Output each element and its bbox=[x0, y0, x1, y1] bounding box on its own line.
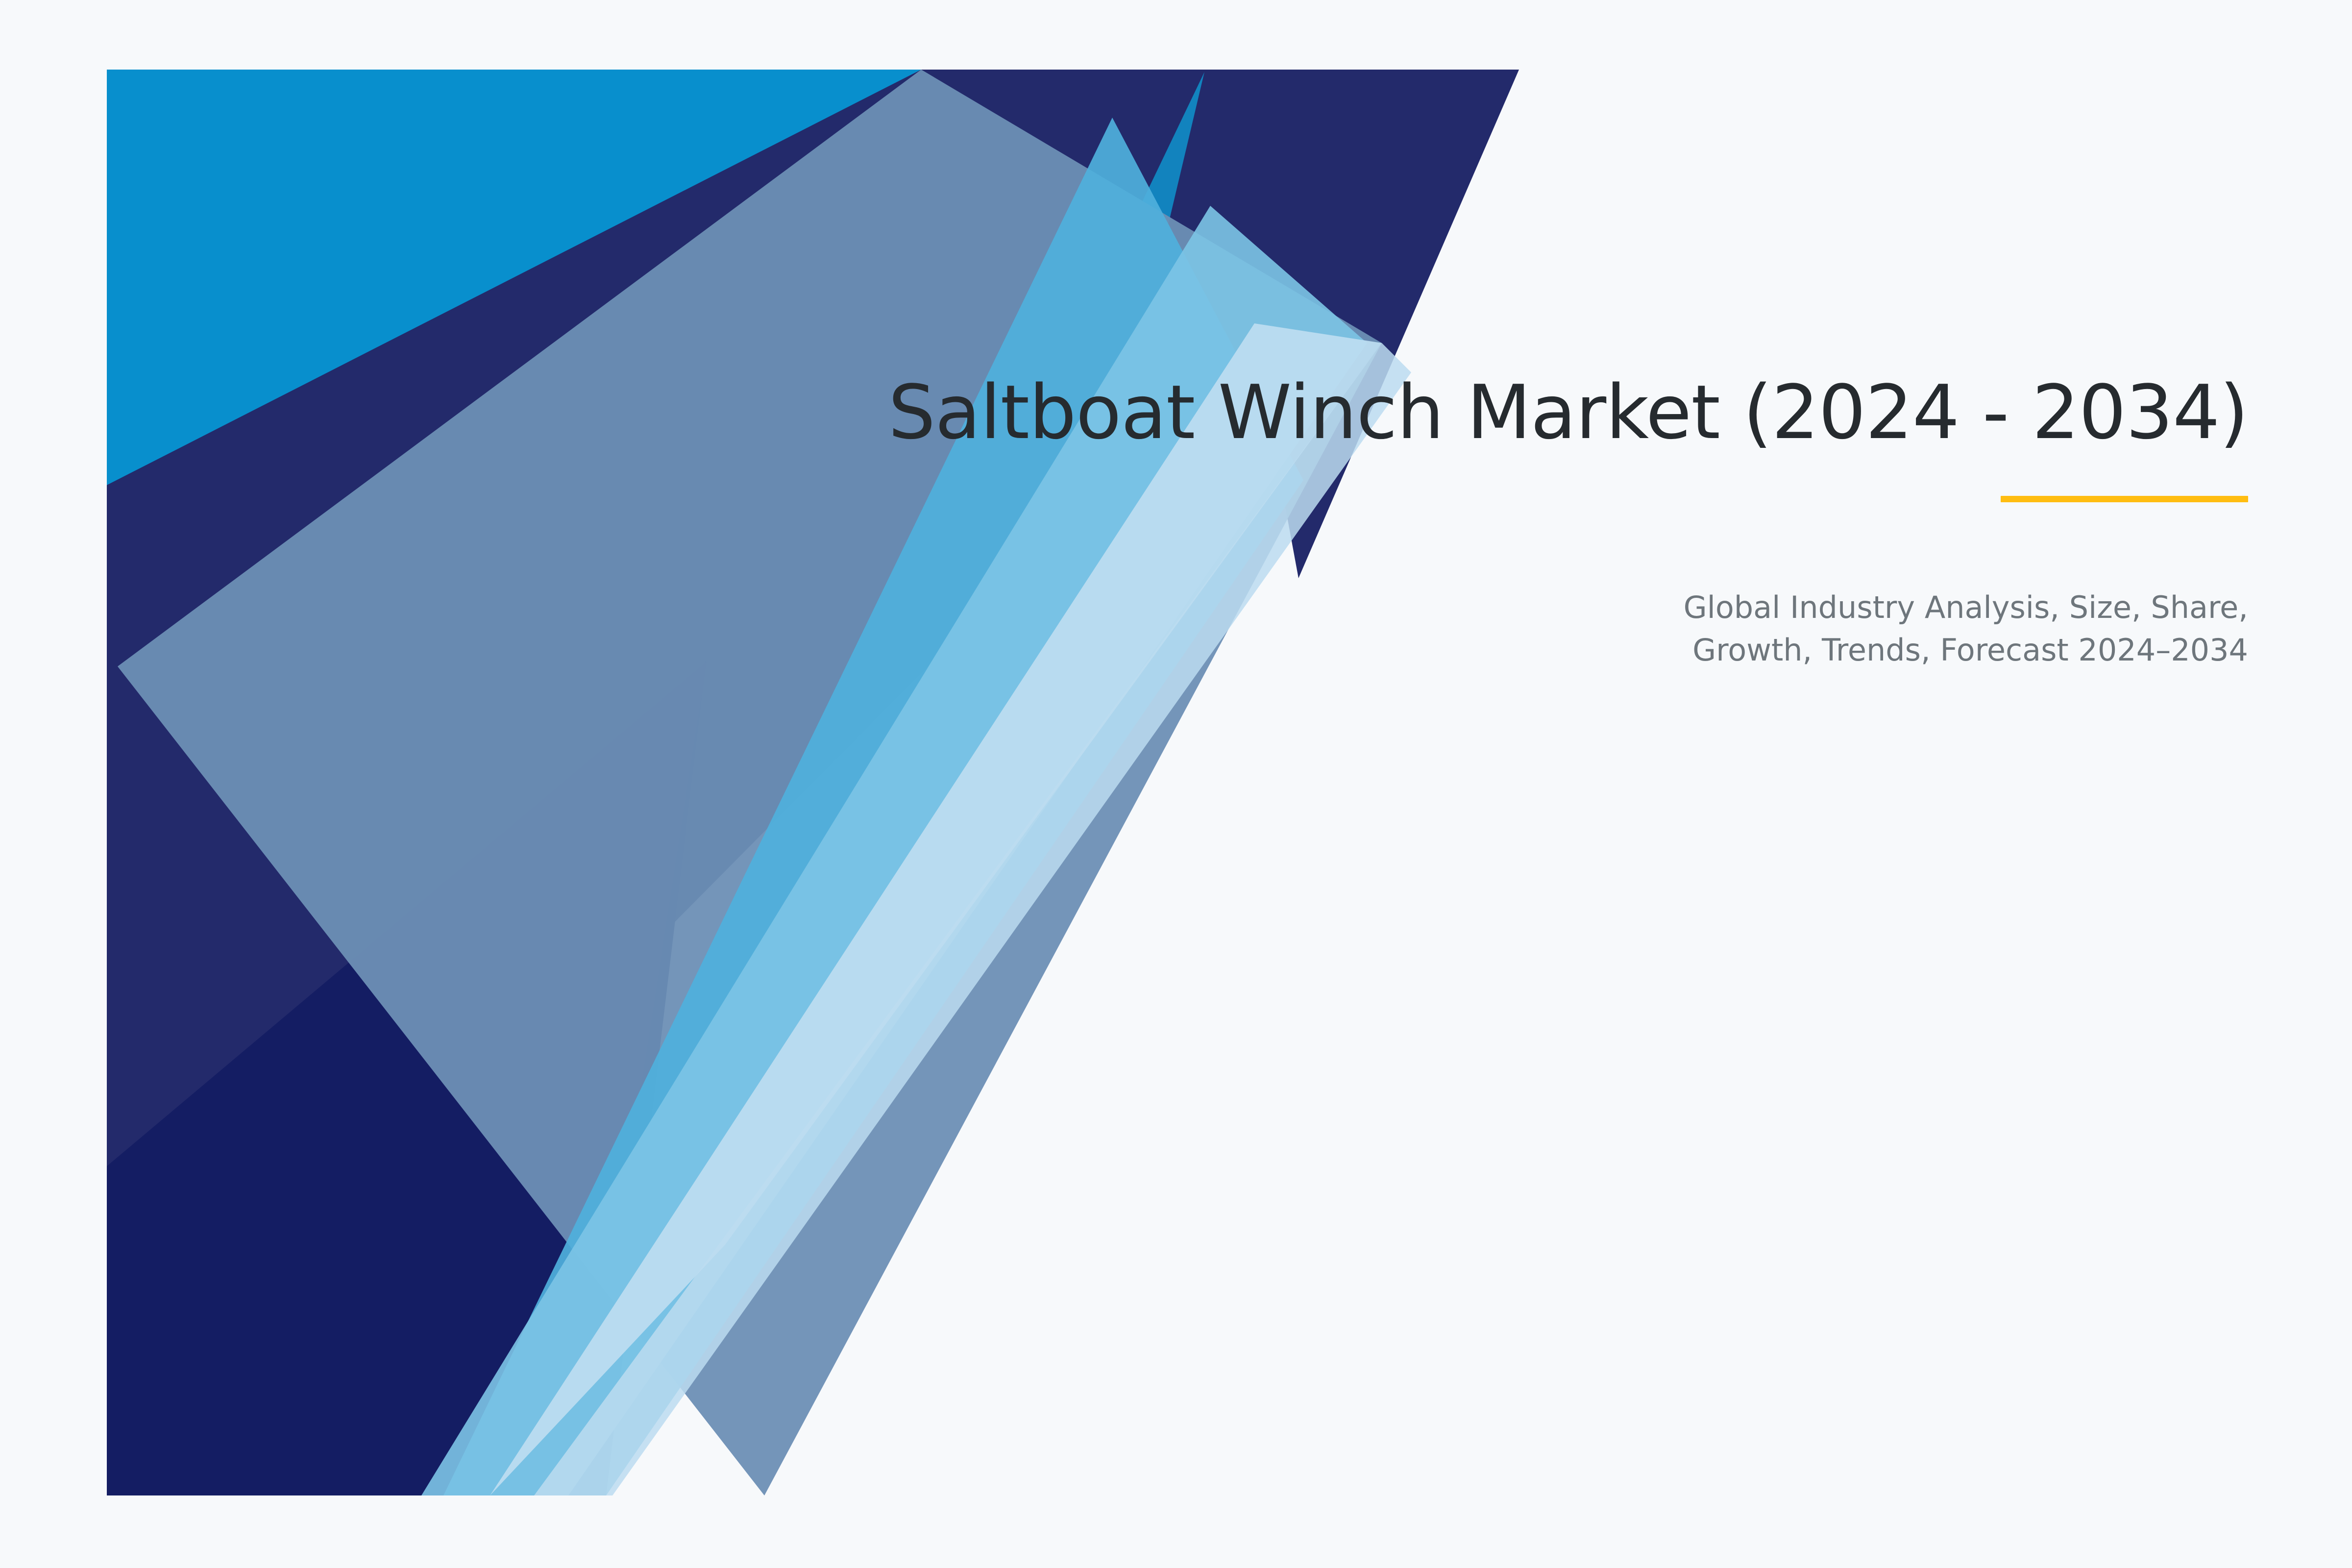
accent-rule bbox=[2001, 496, 2248, 502]
cover-artwork bbox=[0, 0, 2352, 1568]
cover-subtitle: Global Industry Analysis, Size, Share, G… bbox=[1552, 587, 2248, 672]
cover-text-block: Saltboat Winch Market (2024 - 2034) Glob… bbox=[729, 372, 2248, 672]
cover-subtitle-line-2: Growth, Trends, Forecast 2024–2034 bbox=[1552, 629, 2248, 672]
page-title: Saltboat Winch Market (2024 - 2034) bbox=[729, 372, 2248, 453]
report-cover-page: Saltboat Winch Market (2024 - 2034) Glob… bbox=[0, 0, 2352, 1568]
cover-subtitle-line-1: Global Industry Analysis, Size, Share, bbox=[1552, 587, 2248, 629]
